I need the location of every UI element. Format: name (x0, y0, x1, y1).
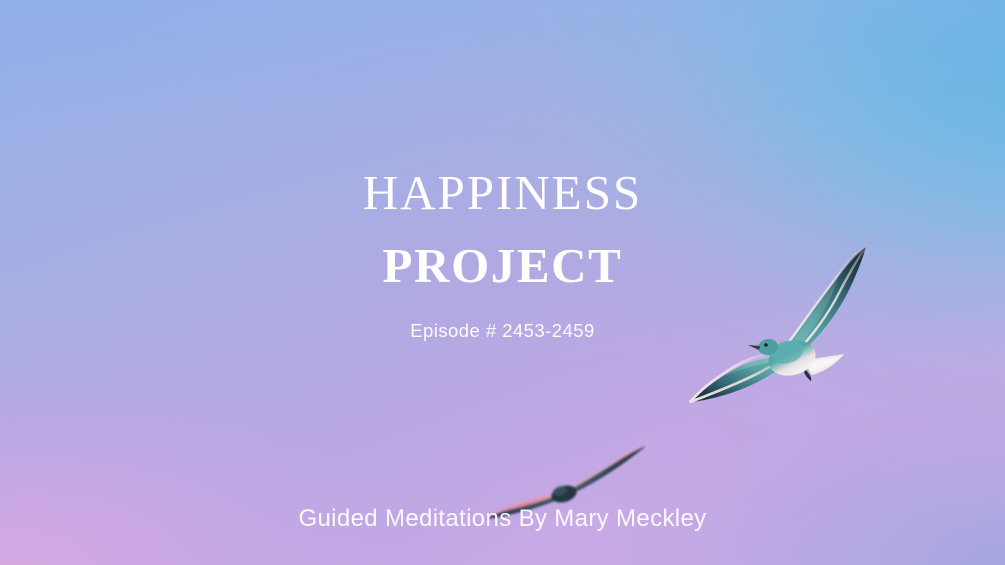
footer-credit: Guided Meditations By Mary Meckley (0, 505, 1005, 533)
page-title-line-2: PROJECT (0, 217, 1005, 290)
cover-text-block: HAPPINESS PROJECT Episode # 2453-2459 (0, 168, 1005, 342)
cover-canvas: HAPPINESS PROJECT Episode # 2453-2459 Gu… (0, 0, 1005, 565)
page-title-line-1: HAPPINESS (0, 168, 1005, 217)
episode-label: Episode # 2453-2459 (0, 290, 1005, 342)
